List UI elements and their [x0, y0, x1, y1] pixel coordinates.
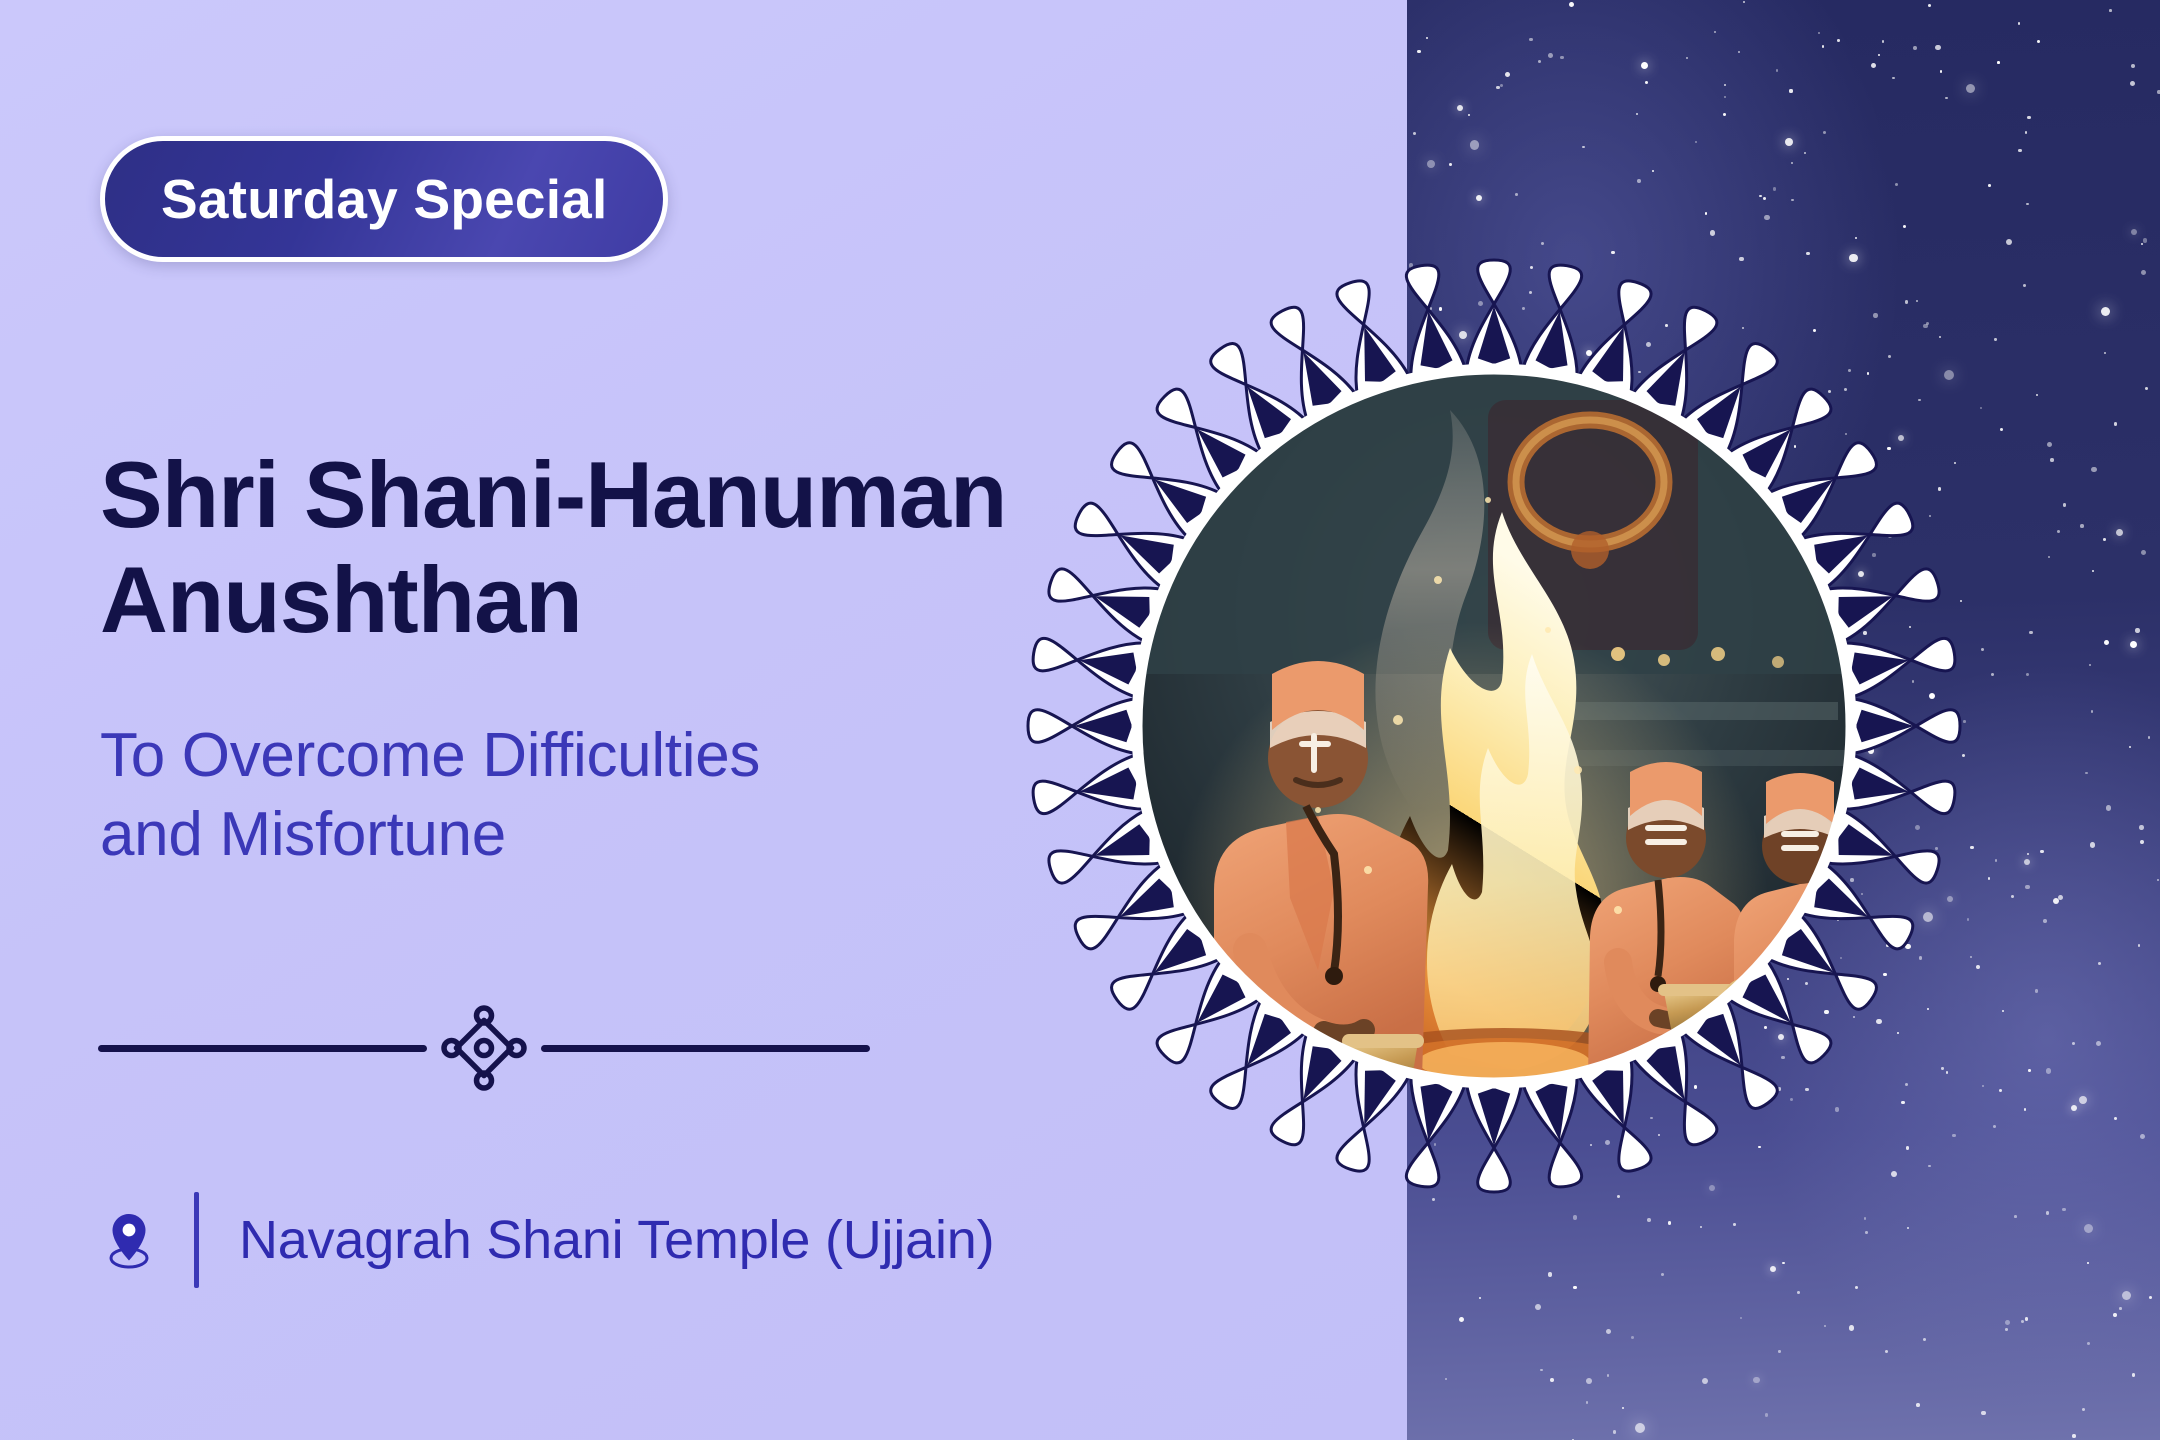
diamond-ornament-icon: [441, 1005, 527, 1091]
decorative-divider: [98, 1018, 870, 1078]
page-subtitle-line-2: and Misfortune: [100, 795, 1000, 874]
page-subtitle-line-1: To Overcome Difficulties: [100, 716, 1000, 795]
divider-rule-left: [98, 1045, 427, 1052]
divider-rule-right: [541, 1045, 870, 1052]
saturday-special-badge[interactable]: Saturday Special: [100, 136, 668, 262]
page-title-line-1: Shri Shani-Hanuman: [100, 442, 1110, 547]
lotus-mandala-frame-icon: [1018, 250, 1970, 1202]
poster-canvas: Saturday Special Shri Shani-Hanuman Anus…: [0, 0, 2160, 1440]
page-title-line-2: Anushthan: [100, 547, 1110, 652]
page-title: Shri Shani-Hanuman Anushthan: [100, 442, 1110, 653]
map-pin-icon: [98, 1209, 160, 1271]
venue-label: Navagrah Shani Temple (Ujjain): [239, 1209, 994, 1271]
venue-separator: [194, 1192, 199, 1288]
venue-row: Navagrah Shani Temple (Ujjain): [98, 1190, 994, 1290]
page-subtitle: To Overcome Difficulties and Misfortune: [100, 716, 1000, 875]
badge-label: Saturday Special: [161, 172, 607, 227]
